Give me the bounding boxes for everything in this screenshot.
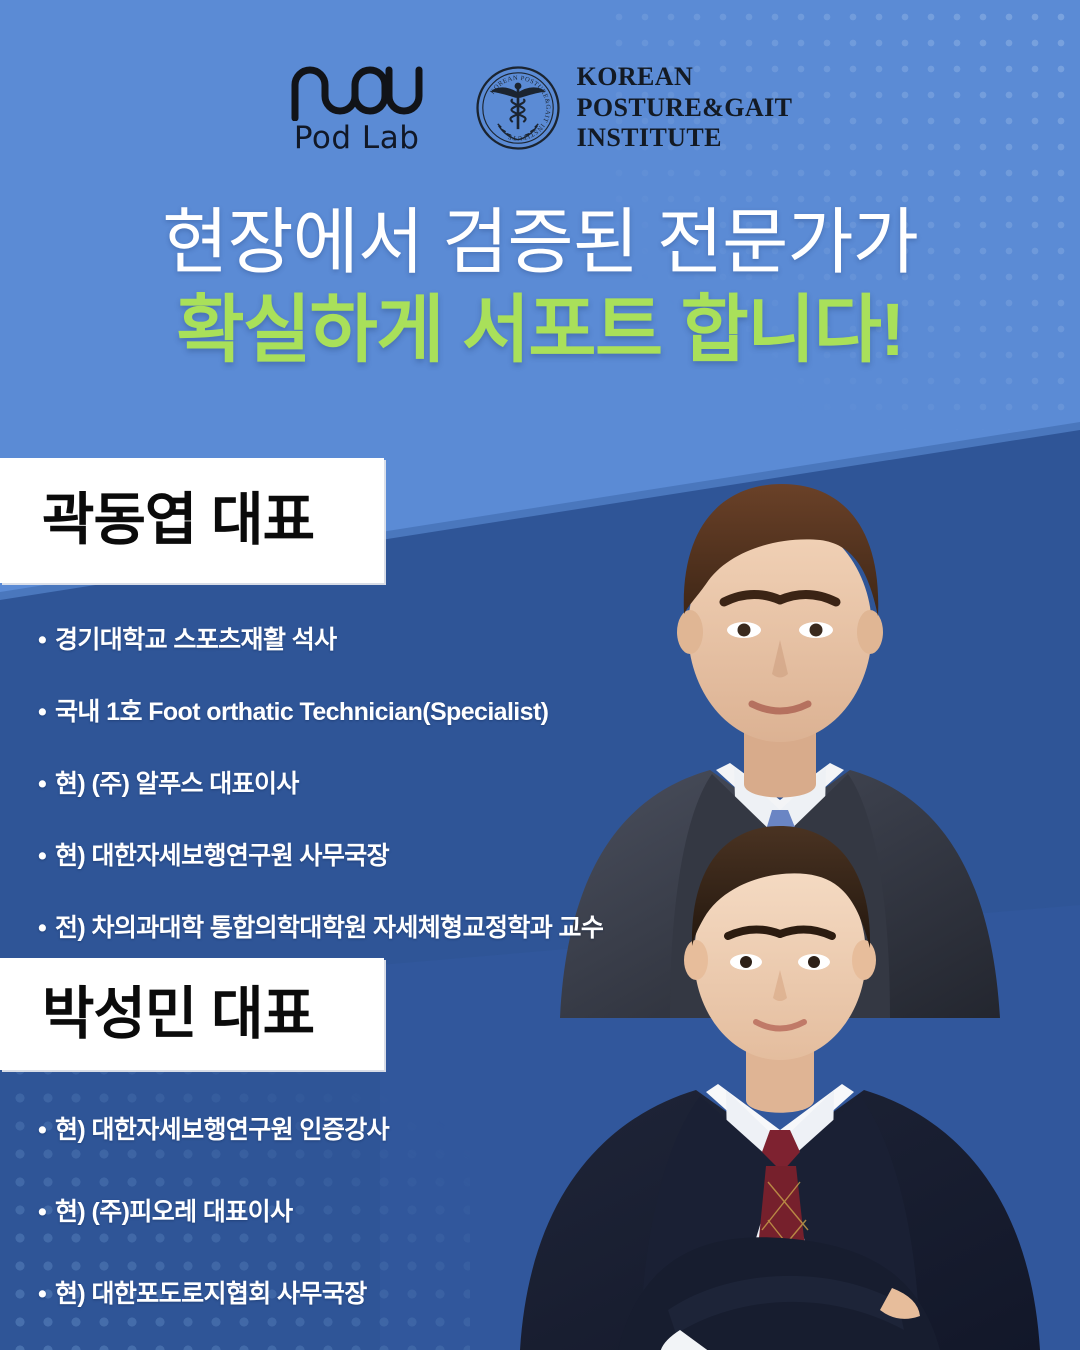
name-badge-2: 박성민 대표 <box>0 958 384 1070</box>
bullet-icon: • <box>38 844 55 869</box>
headline-line-2: 확실하게 서포트 합니다! <box>0 286 1080 375</box>
credential-list-1: • 경기대학교 스포츠재활 석사 • 국내 1호 Foot orthatic T… <box>38 620 738 980</box>
bullet-icon: • <box>38 916 55 941</box>
bullet-icon: • <box>38 772 55 797</box>
credential-text: 현) 대한자세보행연구원 사무국장 <box>55 836 738 872</box>
headline: 현장에서 검증된 전문가가 확실하게 서포트 합니다! <box>0 202 1080 375</box>
kpgi-line-1: KOREAN <box>577 62 793 93</box>
podlab-mark-icon <box>288 63 426 121</box>
credential-item: • 현) 대한포도로지협회 사무국장 <box>38 1274 658 1310</box>
credential-text: 현) 대한자세보행연구원 인증강사 <box>55 1110 658 1146</box>
credential-text: 경기대학교 스포츠재활 석사 <box>55 620 738 656</box>
profile-name-2: 박성민 대표 <box>0 986 314 1043</box>
kpgi-line-2: POSTURE&GAIT <box>577 93 793 124</box>
credential-text: 국내 1호 Foot orthatic Technician(Specialis… <box>55 692 738 728</box>
name-badge-1: 곽동엽 대표 <box>0 458 384 583</box>
credential-text: 전) 차의과대학 통합의학대학원 자세체형교정학과 교수 <box>55 908 738 944</box>
credential-text: 현) (주) 알푸스 대표이사 <box>55 764 738 800</box>
podlab-wordmark: Pod Lab <box>294 123 420 154</box>
credential-item: • 전) 차의과대학 통합의학대학원 자세체형교정학과 교수 <box>38 908 738 944</box>
bullet-icon: • <box>38 1118 55 1143</box>
bullet-icon: • <box>38 1282 55 1307</box>
credential-text: 현) 대한포도로지협회 사무국장 <box>55 1274 658 1310</box>
bullet-icon: • <box>38 1200 55 1225</box>
credential-list-2: • 현) 대한자세보행연구원 인증강사 • 현) (주)피오레 대표이사 • 현… <box>38 1110 658 1350</box>
credential-item: • 경기대학교 스포츠재활 석사 <box>38 620 738 656</box>
credential-item: • 현) 대한자세보행연구원 사무국장 <box>38 836 738 872</box>
profile-name-1: 곽동엽 대표 <box>0 492 314 549</box>
bullet-icon: • <box>38 700 55 725</box>
kpgi-line-3: INSTITUTE <box>577 123 793 154</box>
credential-item: • 국내 1호 Foot orthatic Technician(Special… <box>38 692 738 728</box>
credential-text: 현) (주)피오레 대표이사 <box>55 1192 658 1228</box>
pod-lab-logo: Pod Lab <box>288 63 426 154</box>
logo-row: Pod Lab KOREAN POSTURE&GAIT INSTITUTE <box>0 62 1080 154</box>
promo-poster: Pod Lab KOREAN POSTURE&GAIT INSTITUTE <box>0 0 1080 1350</box>
headline-line-1: 현장에서 검증된 전문가가 <box>0 202 1080 284</box>
credential-item: • 현) 대한자세보행연구원 인증강사 <box>38 1110 658 1146</box>
credential-item: • 현) (주) 알푸스 대표이사 <box>38 764 738 800</box>
credential-item: • 현) (주)피오레 대표이사 <box>38 1192 658 1228</box>
bullet-icon: • <box>38 628 55 653</box>
kpgi-logo: KOREAN POSTURE&GAIT INSTITUTE <box>474 62 793 154</box>
caduceus-seal-icon: KOREAN POSTURE&GAIT INSTITUTE <box>474 64 562 152</box>
kpgi-wordmark: KOREAN POSTURE&GAIT INSTITUTE <box>577 62 793 154</box>
